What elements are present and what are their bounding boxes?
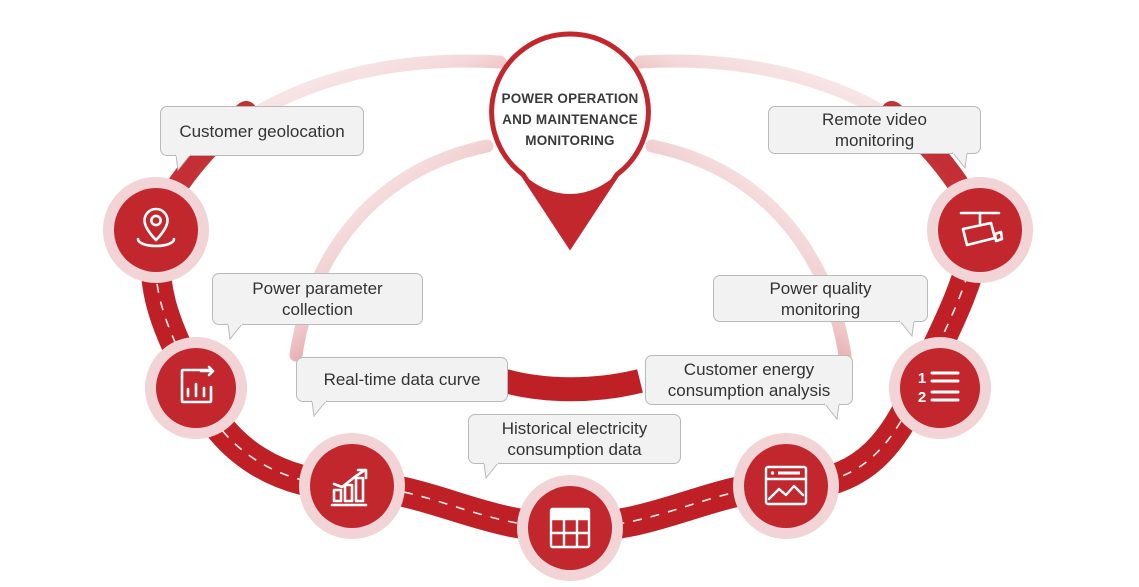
tail-power-parameter-collection bbox=[228, 324, 246, 340]
tail-remote-video-monitoring bbox=[949, 153, 967, 169]
label-remote-video-monitoring[interactable]: Remote video monitoring bbox=[768, 106, 981, 154]
diagram-canvas: 1 2 bbox=[0, 0, 1139, 587]
tail-real-time-data-curve bbox=[312, 401, 330, 417]
label-customer-energy-consumption-analysis[interactable]: Customer energy consumption analysis bbox=[645, 355, 853, 405]
label-real-time-data-curve[interactable]: Real-time data curve bbox=[296, 357, 508, 402]
tail-historical-electricity-consumption-data bbox=[484, 463, 502, 479]
tail-power-quality-monitoring bbox=[896, 321, 914, 337]
center-pin-title: POWER OPERATION AND MAINTENANCE MONITORI… bbox=[490, 88, 650, 151]
label-customer-geolocation[interactable]: Customer geolocation bbox=[160, 106, 364, 156]
tail-customer-energy-consumption-analysis bbox=[821, 404, 839, 420]
label-historical-electricity-consumption-data[interactable]: Historical electricity consumption data bbox=[468, 414, 681, 464]
tail-customer-geolocation bbox=[176, 155, 194, 171]
label-power-quality-monitoring[interactable]: Power quality monitoring bbox=[713, 275, 928, 322]
label-power-parameter-collection[interactable]: Power parameter collection bbox=[212, 273, 423, 325]
